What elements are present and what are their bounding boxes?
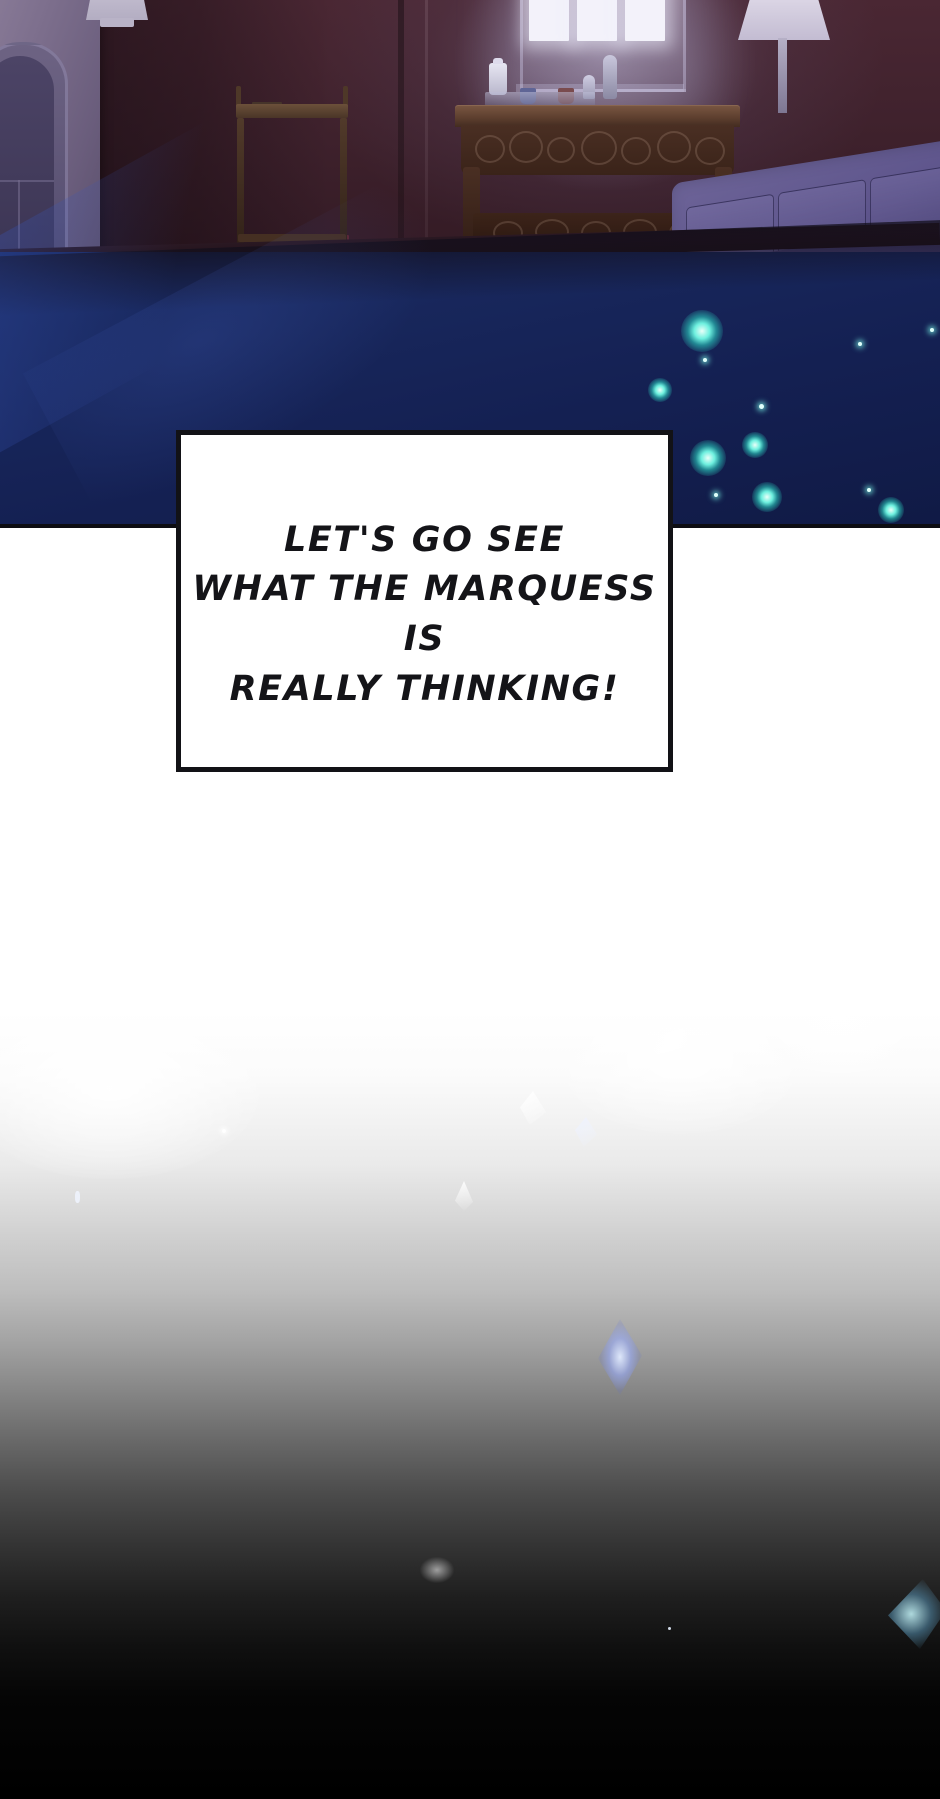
scroll-ornament <box>581 131 617 165</box>
webtoon-page: LET'S GO SEE WHAT THE MARQUESS IS REALLY… <box>0 0 940 1799</box>
teapot <box>489 63 507 95</box>
mantle-stone-line <box>0 180 54 182</box>
light-flake <box>455 1181 473 1211</box>
window-pane <box>529 0 569 41</box>
book-stand-shelf <box>236 104 348 118</box>
figurine <box>603 55 617 99</box>
table-lamp-right-stem <box>778 38 787 113</box>
magic-spark-dot <box>930 328 934 332</box>
light-speck <box>668 1627 671 1630</box>
light-speck <box>75 1191 80 1203</box>
console-table-apron <box>461 125 734 175</box>
window-pane <box>625 0 665 41</box>
magic-spark-dot <box>867 488 871 492</box>
scroll-ornament <box>621 137 651 165</box>
tea-tray <box>485 92 595 106</box>
scroll-ornament <box>509 131 543 163</box>
light-bloom <box>560 984 800 1134</box>
magic-spark-dot <box>714 493 718 497</box>
bokeh-diamond <box>598 1319 642 1395</box>
console-table-top <box>455 105 740 127</box>
magic-spark-dot <box>858 342 862 346</box>
window-pane <box>577 0 617 41</box>
light-bloom <box>0 999 260 1179</box>
bokeh-soft <box>420 1557 454 1583</box>
bokeh-shard <box>888 1579 940 1649</box>
scroll-ornament <box>657 131 691 163</box>
scroll-ornament <box>547 137 575 163</box>
speech-bubble: LET'S GO SEE WHAT THE MARQUESS IS REALLY… <box>176 430 673 772</box>
scroll-ornament <box>475 135 505 163</box>
table-lamp-left-base <box>100 18 134 27</box>
speech-bubble-text: LET'S GO SEE WHAT THE MARQUESS IS REALLY… <box>181 516 668 715</box>
light-speck <box>222 1129 226 1133</box>
table-lamp-left <box>86 0 148 20</box>
window-sill <box>516 84 684 92</box>
light-bloom <box>740 949 940 1079</box>
table-lamp-right <box>738 0 830 40</box>
magic-spark-dot <box>759 404 764 409</box>
light-flake <box>520 1091 546 1125</box>
light-streak <box>640 1029 700 1055</box>
scroll-ornament <box>695 137 725 165</box>
light-flake <box>575 1117 597 1147</box>
magic-spark-dot <box>703 358 707 362</box>
